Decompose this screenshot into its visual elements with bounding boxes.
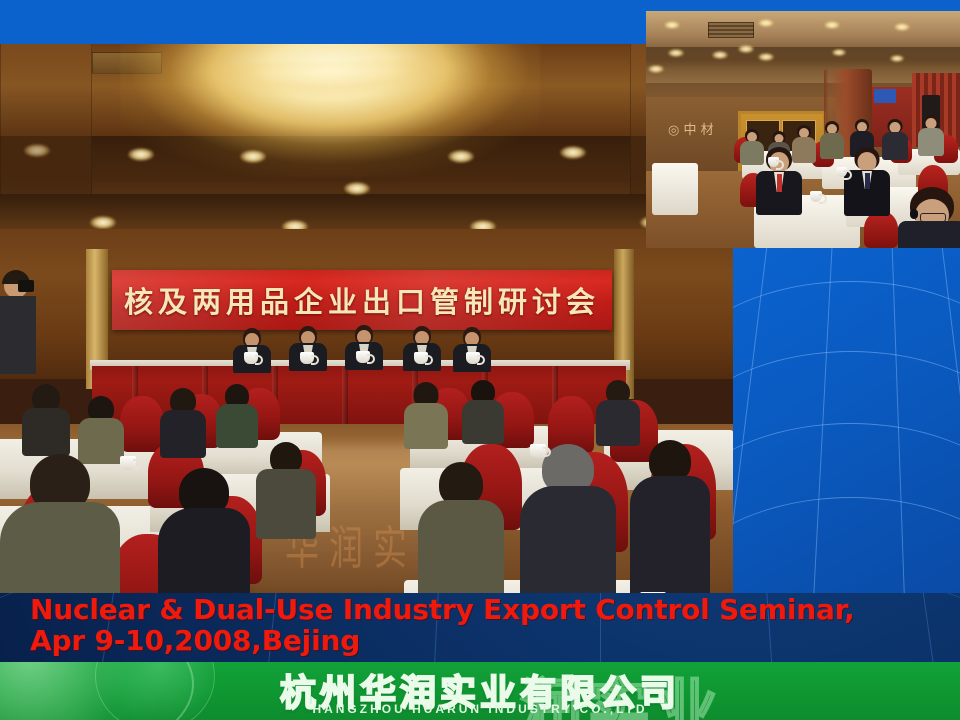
slide-title: Nuclear & Dual-Use Industry Export Contr… <box>30 594 855 657</box>
seminar-banner-text: 核及两用品企业出口管制研讨会 <box>112 279 612 321</box>
wall-panel <box>0 44 92 194</box>
company-footer: 润实业 杭州华润实业有限公司 HANGZHOU HUARUN INDUSTRY … <box>0 662 960 720</box>
downlight <box>90 216 116 229</box>
downlight <box>890 55 904 62</box>
teacup <box>810 191 822 202</box>
audience-chair <box>120 396 164 452</box>
teacup <box>356 351 370 363</box>
downlight <box>824 21 840 29</box>
audience-member <box>22 384 70 454</box>
ceiling-soffit <box>646 47 960 69</box>
teacup <box>414 352 428 364</box>
chair <box>864 211 898 248</box>
attendee-foreground <box>756 147 802 209</box>
downlight <box>448 150 474 163</box>
teacup <box>120 456 136 470</box>
audience-member <box>418 462 504 593</box>
conference-hall-photo: 核及两用品企业出口管制研讨会 <box>0 44 733 593</box>
downlight <box>664 21 680 29</box>
downlight <box>344 182 370 195</box>
audience-member <box>256 442 316 538</box>
meeting-room-photo: ◎ 中 材 <box>646 11 960 248</box>
downlight <box>560 146 586 159</box>
projection-screen <box>874 89 896 103</box>
attendee <box>820 121 844 157</box>
downlight <box>894 23 910 31</box>
audience-member <box>78 396 124 462</box>
slide-title-line-2: Apr 9-10,2008,Bejing <box>30 625 855 656</box>
top-right-blue-strip <box>640 0 960 11</box>
seminar-banner: 核及两用品企业出口管制研讨会 <box>112 270 612 330</box>
company-name-en: HANGZHOU HUARUN INDUSTRY CO.,LTD <box>0 702 960 716</box>
presentation-slide: 核及两用品企业出口管制研讨会 <box>0 0 960 720</box>
audience-member <box>0 454 120 593</box>
panelist <box>232 328 272 372</box>
audience-member <box>160 388 206 456</box>
downlight <box>758 53 774 61</box>
audience-member <box>596 380 640 444</box>
downlight <box>832 49 846 56</box>
audience-member <box>158 468 250 593</box>
slide-title-area: Nuclear & Dual-Use Industry Export Contr… <box>0 593 960 663</box>
attendee <box>918 115 944 153</box>
teacup <box>300 352 314 364</box>
right-blue-panel <box>730 247 960 593</box>
teacup <box>836 167 847 177</box>
top-blue-band <box>0 0 640 45</box>
attendee-foreground <box>844 147 890 211</box>
wall-logo: ◎ 中 材 <box>668 119 736 139</box>
banquet-table <box>652 163 698 215</box>
attendee-foreground <box>898 187 960 248</box>
teacup <box>466 352 480 364</box>
audience-member <box>404 382 448 446</box>
downlight <box>712 51 728 59</box>
slide-title-line-1: Nuclear & Dual-Use Industry Export Contr… <box>30 593 855 626</box>
panelist <box>452 327 492 371</box>
audience-member <box>216 384 258 446</box>
teacup <box>244 352 258 364</box>
downlight <box>240 150 266 163</box>
ceiling-vent <box>708 22 754 38</box>
downlight <box>648 65 664 73</box>
audience-member <box>630 440 710 593</box>
downlight <box>668 49 684 57</box>
chandelier-glow <box>149 59 511 155</box>
audience-member <box>520 444 616 593</box>
downlight <box>128 148 154 161</box>
teacup <box>530 444 546 458</box>
downlight <box>738 45 754 53</box>
teacup <box>768 157 779 167</box>
photographer <box>0 274 42 374</box>
audience-member <box>462 380 504 442</box>
downlight <box>758 19 774 27</box>
